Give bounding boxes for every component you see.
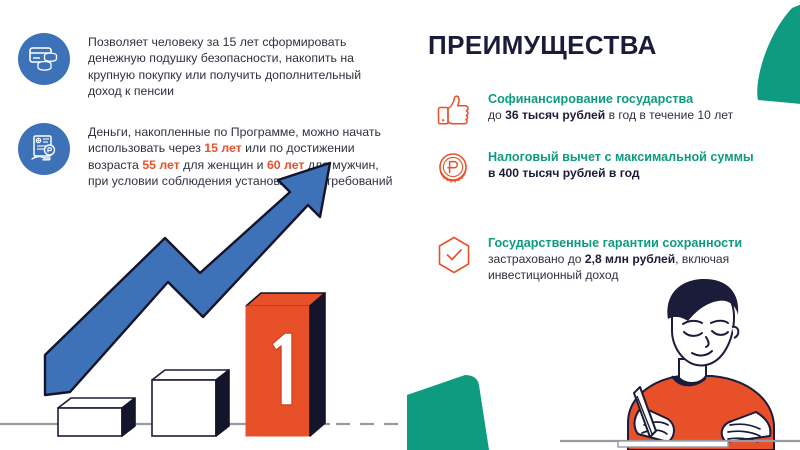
advantage-text: Налоговый вычет с максимальной суммы в 4…: [488, 148, 754, 182]
advantage-heading: Государственные гарантии сохранности: [488, 235, 792, 251]
page-title: ПРЕИМУЩЕСТВА: [428, 30, 657, 61]
chart-bar-3-highlighted: [246, 293, 325, 436]
advantage-subtext: до 36 тысяч рублей в год в течение 10 ле…: [488, 108, 733, 124]
advantage-subtext-segment: до: [488, 108, 505, 122]
advantage-subtext-bold: 2,8 млн рублей: [585, 252, 675, 266]
growth-bar-chart: [0, 130, 430, 450]
advantage-subtext-bold: в 400 тысяч рублей в год: [488, 166, 640, 180]
info-block-text: Позволяет человеку за 15 лет сформироват…: [88, 33, 393, 100]
ruble-coin-icon: [432, 148, 476, 190]
infographic-page: Позволяет человеку за 15 лет сформироват…: [0, 0, 800, 450]
card-and-coins-icon: [18, 33, 70, 85]
advantage-subtext: в 400 тысяч рублей в год: [488, 166, 754, 182]
advantage-item: Софинансирование государства до 36 тысяч…: [432, 90, 792, 132]
advantage-item: Налоговый вычет с максимальной суммы в 4…: [432, 148, 792, 190]
man-writing-illustration: [560, 275, 800, 450]
chart-bar-1: [58, 398, 135, 436]
hexagon-check-icon: [432, 234, 476, 276]
advantage-heading: Софинансирование государства: [488, 91, 733, 107]
chart-bar-2: [152, 370, 229, 436]
thumbs-up-icon: [432, 90, 476, 132]
info-text-segment: Позволяет человеку за 15 лет сформироват…: [88, 35, 361, 98]
advantage-subtext-segment: в год в течение 10 лет: [605, 108, 733, 122]
advantage-subtext-bold: 36 тысяч рублей: [505, 108, 605, 122]
advantage-subtext-segment: застраховано до: [488, 252, 585, 266]
advantage-heading: Налоговый вычет с максимальной суммы: [488, 149, 754, 165]
advantage-text: Софинансирование государства до 36 тысяч…: [488, 90, 733, 124]
info-block: Позволяет человеку за 15 лет сформироват…: [18, 33, 393, 100]
